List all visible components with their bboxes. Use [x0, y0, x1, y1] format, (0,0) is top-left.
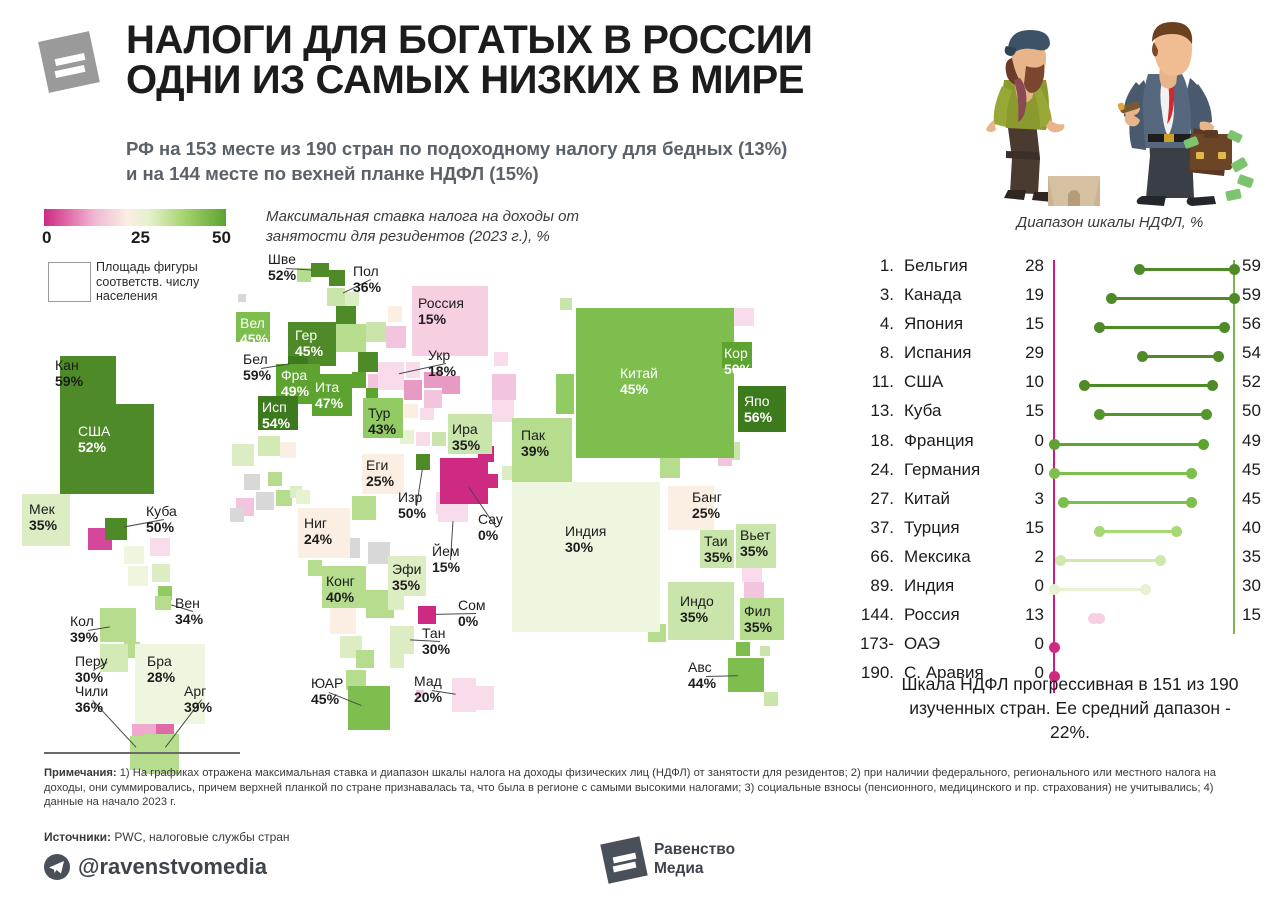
map-country-label: Сау0%	[478, 512, 503, 543]
row-min-value: 15	[1012, 314, 1044, 334]
map-country-label: Изр50%	[398, 490, 426, 521]
table-row: 89.Индия030	[852, 576, 1272, 605]
map-country-value: 45%	[240, 332, 268, 348]
row-rank: 66.	[852, 547, 894, 567]
map-country-label: Гер45%	[295, 328, 323, 359]
row-max-value: 45	[1242, 460, 1261, 480]
range-min-dot	[1094, 322, 1105, 333]
map-country-name: Арг	[184, 684, 212, 700]
map-country-value: 52%	[78, 440, 110, 456]
row-rank: 27.	[852, 489, 894, 509]
table-row: 3.Канада1959	[852, 285, 1272, 314]
row-max-value: 15	[1242, 605, 1261, 625]
map-country-label: Йем15%	[432, 544, 460, 575]
map-country-name: Сом	[458, 598, 486, 614]
map-country-name: Гер	[295, 328, 323, 344]
map-country-value: 25%	[692, 506, 722, 522]
notes-label: Примечания:	[44, 767, 117, 779]
map-country-value: 35%	[740, 544, 770, 560]
map-country-name: Перу	[75, 654, 107, 670]
map-tile	[256, 492, 274, 510]
map-country-value: 45%	[620, 382, 658, 398]
row-min-value: 0	[1012, 634, 1044, 654]
range-min-dot	[1058, 497, 1069, 508]
row-country-name: Бельгия	[904, 256, 968, 276]
map-country-label: Конг40%	[326, 574, 355, 605]
poor-and-rich-man-illustration	[950, 8, 1270, 208]
map-tile	[734, 308, 754, 326]
map-country-value: 24%	[304, 532, 332, 548]
row-rank: 13.	[852, 401, 894, 421]
map-country-label: Япо56%	[744, 394, 772, 425]
row-max-value: 45	[1242, 489, 1261, 509]
page-title: НАЛОГИ ДЛЯ БОГАТЫХ В РОССИИ ОДНИ ИЗ САМЫ…	[126, 20, 956, 100]
map-tile	[336, 324, 366, 352]
range-min-dot	[1094, 526, 1105, 537]
map-country-value: 0%	[478, 528, 503, 544]
map-country-name: Вен	[175, 596, 203, 612]
map-country-value: 43%	[368, 422, 396, 438]
map-country-tile	[452, 678, 476, 712]
map-country-name: Кор	[724, 346, 752, 362]
map-tile	[330, 608, 356, 634]
map-tile	[308, 560, 322, 576]
row-country-name: США	[904, 372, 943, 392]
range-min-dot	[1106, 293, 1117, 304]
range-min-dot	[1049, 584, 1060, 595]
map-country-label: Банг25%	[692, 490, 722, 521]
map-tile	[420, 408, 434, 420]
brand-logo: Равенство Медиа	[604, 838, 784, 886]
subtitle-line-2: и на 144 месте по вехней планке НДФЛ (15…	[126, 161, 956, 186]
row-max-value: 40	[1242, 518, 1261, 538]
map-country-name: Банг	[692, 490, 722, 506]
table-row: 4.Япония1556	[852, 314, 1272, 343]
table-row: 8.Испания2954	[852, 343, 1272, 372]
map-country-value: 59%	[55, 374, 83, 390]
map-country-value: 44%	[688, 676, 716, 692]
map-tile	[386, 326, 406, 348]
map-tile	[424, 390, 442, 408]
subtitle-line-1: РФ на 153 месте из 190 стран по подоходн…	[126, 136, 956, 161]
map-country-value: 30%	[422, 642, 450, 658]
map-country-name: Ира	[452, 422, 480, 438]
map-tile	[492, 374, 516, 400]
map-country-value: 47%	[315, 396, 343, 412]
row-max-value: 56	[1242, 314, 1261, 334]
table-row: 13.Куба1550	[852, 401, 1272, 430]
world-cartogram-map: Кан59%США52%Мек35%Куба50%Кол39%Вен34%Бра…	[0, 246, 840, 746]
range-min-dot	[1049, 468, 1060, 479]
color-scale-gradient	[44, 209, 226, 226]
map-country-label: Индо35%	[680, 594, 714, 625]
map-country-name: Вьет	[740, 528, 770, 544]
range-min-dot	[1137, 351, 1148, 362]
row-country-name: Испания	[904, 343, 971, 363]
map-country-value: 39%	[521, 444, 549, 460]
tax-range-table: 1.Бельгия28593.Канада19594.Япония15568.И…	[852, 256, 1272, 692]
row-max-value: 35	[1242, 547, 1261, 567]
map-country-tile	[348, 686, 390, 730]
map-country-label: Индия30%	[565, 524, 606, 555]
map-country-name: ЮАР	[311, 676, 343, 692]
map-country-label: Кор50%	[724, 346, 752, 377]
scale-tick-0: 0	[42, 228, 51, 248]
map-country-name: Исп	[262, 400, 290, 416]
map-country-name: Пол	[353, 264, 381, 280]
map-country-value: 45%	[295, 344, 323, 360]
map-tile	[280, 442, 296, 458]
row-min-value: 19	[1012, 285, 1044, 305]
scale-tick-25: 25	[131, 228, 150, 248]
range-max-dot	[1186, 497, 1197, 508]
map-country-name: Авс	[688, 660, 716, 676]
map-country-value: 18%	[428, 364, 456, 380]
map-country-name: Конг	[326, 574, 355, 590]
row-rank: 4.	[852, 314, 894, 334]
range-min-dot	[1079, 380, 1090, 391]
table-row: 37.Турция1540	[852, 518, 1272, 547]
map-country-label: Мад20%	[414, 674, 442, 705]
map-country-value: 50%	[398, 506, 426, 522]
range-max-dot	[1186, 468, 1197, 479]
row-min-value: 15	[1012, 401, 1044, 421]
map-country-tile	[416, 454, 430, 470]
map-country-tile	[438, 504, 468, 522]
row-max-value: 59	[1242, 256, 1261, 276]
map-country-value: 56%	[744, 410, 772, 426]
map-country-label: Авс44%	[688, 660, 716, 691]
range-min-dot	[1094, 409, 1105, 420]
map-tile	[268, 472, 282, 486]
map-country-value: 35%	[29, 518, 57, 534]
map-tile	[388, 596, 404, 610]
map-country-name: Ита	[315, 380, 343, 396]
map-country-label: Фил35%	[744, 604, 772, 635]
map-tile	[128, 566, 148, 586]
map-country-name: Фра	[281, 368, 309, 384]
range-max-dot	[1198, 439, 1209, 450]
map-country-value: 28%	[147, 670, 175, 686]
map-country-label: Еги25%	[366, 458, 394, 489]
row-country-name: Куба	[904, 401, 941, 421]
map-tile	[404, 404, 418, 418]
row-country-name: Германия	[904, 460, 980, 480]
rich-man-figure	[1117, 22, 1254, 206]
map-tile	[258, 436, 280, 456]
row-country-name: Турция	[904, 518, 960, 538]
map-country-value: 36%	[353, 280, 381, 296]
table-row: 1.Бельгия2859	[852, 256, 1272, 285]
map-country-label: Кан59%	[55, 358, 83, 389]
map-country-value: 49%	[281, 384, 309, 400]
map-country-name: Изр	[398, 490, 426, 506]
range-connector	[1100, 530, 1176, 533]
map-country-label: Куба50%	[146, 504, 177, 535]
range-min-dot	[1134, 264, 1145, 275]
map-tile	[358, 352, 378, 372]
sources-label: Источники:	[44, 830, 111, 844]
map-country-name: Бел	[243, 352, 271, 368]
map-country-label: Китай45%	[620, 366, 658, 397]
map-country-tile	[378, 362, 404, 390]
map-country-label: Шве52%	[268, 252, 296, 283]
map-country-label: Укр18%	[428, 348, 456, 379]
map-tile	[494, 352, 508, 366]
range-connector	[1085, 384, 1213, 387]
map-country-label: Тан30%	[422, 626, 450, 657]
map-tile	[416, 432, 430, 446]
table-caption: Диапазон шкалы НДФЛ, %	[960, 214, 1260, 231]
range-max-dot	[1229, 264, 1240, 275]
map-tile	[736, 642, 750, 656]
row-rank: 8.	[852, 343, 894, 363]
range-connector	[1054, 472, 1191, 475]
row-country-name: Индия	[904, 576, 954, 596]
row-max-value: 49	[1242, 431, 1261, 451]
map-country-label: Бра28%	[147, 654, 175, 685]
map-tile	[492, 400, 514, 422]
map-tile	[232, 444, 254, 466]
map-country-name: Эфи	[392, 562, 421, 578]
row-max-value: 54	[1242, 343, 1261, 363]
map-tile	[556, 374, 574, 414]
range-connector	[1100, 413, 1207, 416]
range-min-dot	[1055, 555, 1066, 566]
row-rank: 24.	[852, 460, 894, 480]
map-country-value: 35%	[392, 578, 421, 594]
map-country-name: Еги	[366, 458, 394, 474]
map-country-label: ЮАР45%	[311, 676, 343, 707]
map-country-value: 15%	[418, 312, 464, 328]
map-country-name: Кан	[55, 358, 83, 374]
map-country-value: 35%	[680, 610, 714, 626]
sources-text: Источники: PWC, налоговые службы стран	[44, 830, 290, 844]
map-country-tile	[100, 608, 136, 642]
map-country-label: Таи35%	[704, 534, 732, 565]
telegram-handle[interactable]: @ravenstvomedia	[78, 854, 267, 880]
row-rank: 89.	[852, 576, 894, 596]
footer-divider	[44, 752, 240, 754]
map-country-name: США	[78, 424, 110, 440]
row-country-name: ОАЭ	[904, 634, 940, 654]
map-country-name: Куба	[146, 504, 177, 520]
scale-tick-50: 50	[212, 228, 231, 248]
table-row: 144.Россия1315	[852, 605, 1272, 634]
range-connector	[1142, 355, 1218, 358]
range-max-dot	[1207, 380, 1218, 391]
range-connector	[1100, 326, 1225, 329]
map-country-value: 35%	[744, 620, 772, 636]
range-connector	[1139, 268, 1234, 271]
map-country-value: 34%	[175, 612, 203, 628]
map-country-label: Чили36%	[75, 684, 108, 715]
brand-line-1: Равенство	[654, 840, 735, 859]
page-subtitle: РФ на 153 месте из 190 стран по подоходн…	[126, 136, 956, 186]
row-min-value: 2	[1012, 547, 1044, 567]
map-tile	[432, 432, 446, 446]
row-rank: 190.	[852, 663, 894, 683]
map-tile	[404, 380, 422, 400]
range-max-dot	[1155, 555, 1166, 566]
map-country-label: Исп54%	[262, 400, 290, 431]
range-min-dot	[1049, 439, 1060, 450]
map-tile	[244, 474, 260, 490]
map-country-value: 54%	[262, 416, 290, 432]
map-country-name: Фил	[744, 604, 772, 620]
row-rank: 3.	[852, 285, 894, 305]
row-max-value: 52	[1242, 372, 1261, 392]
map-tile	[764, 692, 778, 706]
table-row: 66.Мексика235	[852, 547, 1272, 576]
map-country-label: Вьет35%	[740, 528, 770, 559]
table-row: 173-ОАЭ0	[852, 634, 1272, 663]
map-country-name: Йем	[432, 544, 460, 560]
map-country-value: 0%	[458, 614, 486, 630]
scale-caption: Максимальная ставка налога на доходы от …	[266, 207, 596, 247]
map-country-value: 39%	[184, 700, 212, 716]
map-tile	[329, 270, 345, 286]
map-country-label: Ира35%	[452, 422, 480, 453]
map-country-name: Индия	[565, 524, 606, 540]
row-min-value: 29	[1012, 343, 1044, 363]
row-min-value: 28	[1012, 256, 1044, 276]
map-country-tile	[327, 288, 345, 306]
map-tile	[352, 372, 366, 388]
map-tile	[356, 650, 374, 668]
map-country-name: Россия	[418, 296, 464, 312]
notes-text: Примечания: 1) На графиках отражена макс…	[44, 766, 1239, 810]
map-country-label: Пол36%	[353, 264, 381, 295]
range-connector	[1060, 559, 1161, 562]
map-tile	[238, 294, 246, 302]
map-country-name: Укр	[428, 348, 456, 364]
range-max-dot	[1094, 613, 1105, 624]
map-tile	[296, 490, 310, 504]
row-min-value: 0	[1012, 431, 1044, 451]
map-country-value: 20%	[414, 690, 442, 706]
map-tile	[368, 542, 390, 564]
map-country-label: Ита47%	[315, 380, 343, 411]
map-tile	[366, 322, 386, 342]
range-connector	[1063, 501, 1191, 504]
map-country-value: 30%	[565, 540, 606, 556]
map-country-tile	[512, 482, 660, 632]
row-country-name: Китай	[904, 489, 950, 509]
map-country-label: Эфи35%	[392, 562, 421, 593]
map-country-name: Индо	[680, 594, 714, 610]
row-rank: 37.	[852, 518, 894, 538]
map-country-tile	[105, 518, 127, 540]
range-min-dot	[1049, 642, 1060, 653]
row-country-name: Канада	[904, 285, 962, 305]
map-country-name: Сау	[478, 512, 503, 528]
range-connector	[1054, 588, 1146, 591]
map-country-value: 50%	[146, 520, 177, 536]
map-country-name: Чили	[75, 684, 108, 700]
map-country-value: 59%	[243, 368, 271, 384]
map-country-value: 15%	[432, 560, 460, 576]
map-country-label: Тур43%	[368, 406, 396, 437]
map-country-name: Таи	[704, 534, 732, 550]
table-row: 24.Германия045	[852, 460, 1272, 489]
row-max-value: 59	[1242, 285, 1261, 305]
map-tile	[124, 546, 144, 564]
range-max-dot	[1171, 526, 1182, 537]
map-country-label: США52%	[78, 424, 110, 455]
row-max-value: 30	[1242, 576, 1261, 596]
range-max-dot	[1201, 409, 1212, 420]
map-tile	[352, 496, 376, 520]
map-country-label: Бел59%	[243, 352, 271, 383]
range-max-dot	[1140, 584, 1151, 595]
row-rank: 18.	[852, 431, 894, 451]
map-country-label: Вен34%	[175, 596, 203, 627]
range-connector	[1112, 297, 1234, 300]
row-country-name: Япония	[904, 314, 963, 334]
map-country-label: Сом0%	[458, 598, 486, 629]
map-country-tile	[440, 458, 488, 504]
table-footnote: Шкала НДФЛ прогрессивная в 151 из 190 из…	[890, 672, 1250, 744]
map-country-name: Бра	[147, 654, 175, 670]
map-tile	[388, 306, 402, 322]
map-country-name: Япо	[744, 394, 772, 410]
row-max-value: 50	[1242, 401, 1261, 421]
title-line-1: НАЛОГИ ДЛЯ БОГАТЫХ В РОССИИ	[126, 20, 956, 60]
row-country-name: Россия	[904, 605, 960, 625]
range-connector	[1054, 443, 1203, 446]
map-country-value: 25%	[366, 474, 394, 490]
telegram-icon[interactable]	[44, 854, 70, 880]
equality-logo-icon	[38, 30, 104, 96]
row-min-value: 0	[1012, 576, 1044, 596]
range-max-dot	[1219, 322, 1230, 333]
map-country-value: 50%	[724, 362, 752, 378]
map-tile	[760, 646, 770, 656]
map-country-value: 40%	[326, 590, 355, 606]
map-tile	[152, 564, 170, 582]
row-rank: 173-	[852, 634, 894, 654]
map-country-name: Пак	[521, 428, 549, 444]
map-country-label: Пак39%	[521, 428, 549, 459]
map-tile	[230, 508, 244, 522]
map-country-label: Перу30%	[75, 654, 107, 685]
map-country-name: Кол	[70, 614, 98, 630]
map-country-value: 45%	[311, 692, 343, 708]
map-country-label: Ниг24%	[304, 516, 332, 547]
map-country-name: Шве	[268, 252, 296, 268]
map-country-name: Мад	[414, 674, 442, 690]
map-country-value: 35%	[452, 438, 480, 454]
row-country-name: Мексика	[904, 547, 971, 567]
map-tile	[660, 458, 680, 478]
row-rank: 144.	[852, 605, 894, 625]
map-country-name: Китай	[620, 366, 658, 382]
map-country-name: Тур	[368, 406, 396, 422]
map-country-value: 36%	[75, 700, 108, 716]
map-country-name: Тан	[422, 626, 450, 642]
row-min-value: 13	[1012, 605, 1044, 625]
map-country-name: Мек	[29, 502, 57, 518]
map-country-tile	[311, 263, 329, 277]
map-tile	[560, 298, 572, 310]
map-country-tile	[155, 596, 171, 610]
row-min-value: 0	[1012, 460, 1044, 480]
row-rank: 11.	[852, 372, 894, 392]
map-country-name: Вел	[240, 316, 268, 332]
row-min-value: 3	[1012, 489, 1044, 509]
table-row: 11.США1052	[852, 372, 1272, 401]
